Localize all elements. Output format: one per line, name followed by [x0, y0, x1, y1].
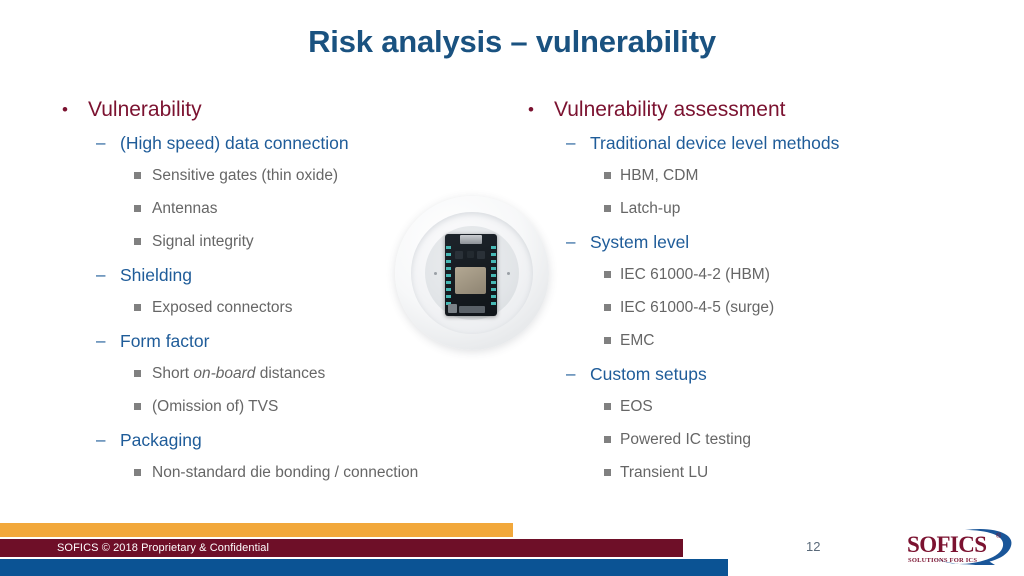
bullet-square-icon: [134, 238, 141, 245]
bullet-label: Shielding: [120, 262, 192, 288]
pcb-component-b: [467, 251, 474, 258]
bullet-dash-icon: –: [566, 361, 575, 387]
bullet-square-icon: [604, 304, 611, 311]
bullet-label: EMC: [620, 328, 654, 354]
bullet-level3-latch-up: Latch-up: [512, 196, 942, 229]
bullet-dot-icon: •: [528, 96, 534, 124]
product-photo-iot-sensor-puck: [383, 190, 561, 362]
bullet-label: System level: [590, 229, 689, 255]
bullet-square-icon: [604, 403, 611, 410]
bullet-dash-icon: –: [96, 262, 105, 288]
bullet-label: Short on-board distances: [152, 361, 325, 387]
bullet-label: (High speed) data connection: [120, 130, 349, 156]
bullet-level2-packaging: – Packaging: [48, 427, 468, 460]
bullet-label: Signal integrity: [152, 229, 254, 255]
bullet-square-icon: [134, 205, 141, 212]
bullet-label: HBM, CDM: [620, 163, 698, 189]
bullet-level3-transient-lu: Transient LU: [512, 460, 942, 493]
enclosure-screw-left: [434, 272, 437, 275]
bullet-label: Powered IC testing: [620, 427, 751, 453]
bullet-label: Non-standard die bonding / connection: [152, 460, 418, 486]
bullet-label: Packaging: [120, 427, 202, 453]
bullet-label: Latch-up: [620, 196, 680, 222]
bullet-square-icon: [134, 403, 141, 410]
bullet-level1-vulnerability-assessment: • Vulnerability assessment: [512, 96, 942, 130]
bullet-label: EOS: [620, 394, 653, 420]
bullet-dash-icon: –: [96, 328, 105, 354]
pcb-component-c: [477, 251, 485, 259]
pcb-rf-module: [455, 267, 486, 294]
pcb-board: [445, 234, 497, 316]
bullet-dash-icon: –: [96, 427, 105, 453]
bullet-square-icon: [134, 469, 141, 476]
bullet-label: Form factor: [120, 328, 209, 354]
bullet-level2-high-speed-data-connection: – (High speed) data connection: [48, 130, 468, 163]
bullet-level3-short-on-board-distances: Short on-board distances: [48, 361, 468, 394]
pcb-pads-left: [446, 246, 451, 306]
pcb-component-a: [455, 251, 463, 259]
bullet-dash-icon: –: [566, 130, 575, 156]
usb-connector: [460, 235, 482, 244]
bullet-square-icon: [604, 337, 611, 344]
bullet-level3-iec-61000-4-2: IEC 61000-4-2 (HBM): [512, 262, 942, 295]
footer-copyright: SOFICS © 2018 Proprietary & Confidential: [57, 541, 269, 555]
bullet-label: Transient LU: [620, 460, 708, 486]
bullet-label: Sensitive gates (thin oxide): [152, 163, 338, 189]
sofics-logo: SOFICS ® SOLUTIONS FOR ICS: [903, 524, 1015, 572]
pcb-pads-right: [491, 246, 496, 306]
bullet-label: Exposed connectors: [152, 295, 292, 321]
bullet-level3-omission-of-tvs: (Omission of) TVS: [48, 394, 468, 427]
bullet-label: (Omission of) TVS: [152, 394, 278, 420]
bullet-level2-custom-setups: – Custom setups: [512, 361, 942, 394]
bullet-label: IEC 61000-4-2 (HBM): [620, 262, 770, 288]
bullet-level2-traditional-device-level-methods: – Traditional device level methods: [512, 130, 942, 163]
bullet-dash-icon: –: [96, 130, 105, 156]
bullet-label: Vulnerability assessment: [554, 96, 786, 124]
footer-bar-orange: [0, 523, 513, 537]
bullet-square-icon: [604, 436, 611, 443]
bullet-dot-icon: •: [62, 96, 68, 124]
pcb-component-d: [448, 304, 457, 313]
bullet-level3-powered-ic-testing: Powered IC testing: [512, 427, 942, 460]
bullet-label: IEC 61000-4-5 (surge): [620, 295, 774, 321]
bullet-level3-eos: EOS: [512, 394, 942, 427]
bullet-level3-emc: EMC: [512, 328, 942, 361]
bullet-square-icon: [604, 172, 611, 179]
bullet-level1-vulnerability: • Vulnerability: [48, 96, 468, 130]
bullet-square-icon: [134, 172, 141, 179]
bullet-level3-iec-61000-4-5: IEC 61000-4-5 (surge): [512, 295, 942, 328]
bullet-square-icon: [134, 304, 141, 311]
bullet-label: Antennas: [152, 196, 218, 222]
bullet-label: Custom setups: [590, 361, 707, 387]
logo-tagline: SOLUTIONS FOR ICS: [908, 557, 977, 564]
footer-bar-blue: [0, 559, 728, 576]
bullet-dash-icon: –: [566, 229, 575, 255]
bullet-square-icon: [134, 370, 141, 377]
bullet-square-icon: [604, 205, 611, 212]
enclosure-screw-right: [507, 272, 510, 275]
bullet-level3-non-standard-die-bonding: Non-standard die bonding / connection: [48, 460, 468, 493]
bullet-level3-hbm-cdm: HBM, CDM: [512, 163, 942, 196]
bullet-square-icon: [604, 469, 611, 476]
bullet-label: Vulnerability: [88, 96, 202, 124]
page-number: 12: [806, 539, 820, 554]
logo-wordmark: SOFICS: [907, 532, 986, 558]
pcb-bottom-pad: [459, 306, 485, 313]
right-content-column: • Vulnerability assessment – Traditional…: [512, 96, 942, 493]
slide: Risk analysis – vulnerability • Vulnerab…: [0, 0, 1024, 576]
bullet-square-icon: [604, 271, 611, 278]
bullet-label: Traditional device level methods: [590, 130, 839, 156]
logo-registered-mark: ®: [996, 533, 1001, 540]
page-title: Risk analysis – vulnerability: [0, 24, 1024, 60]
bullet-level2-system-level: – System level: [512, 229, 942, 262]
